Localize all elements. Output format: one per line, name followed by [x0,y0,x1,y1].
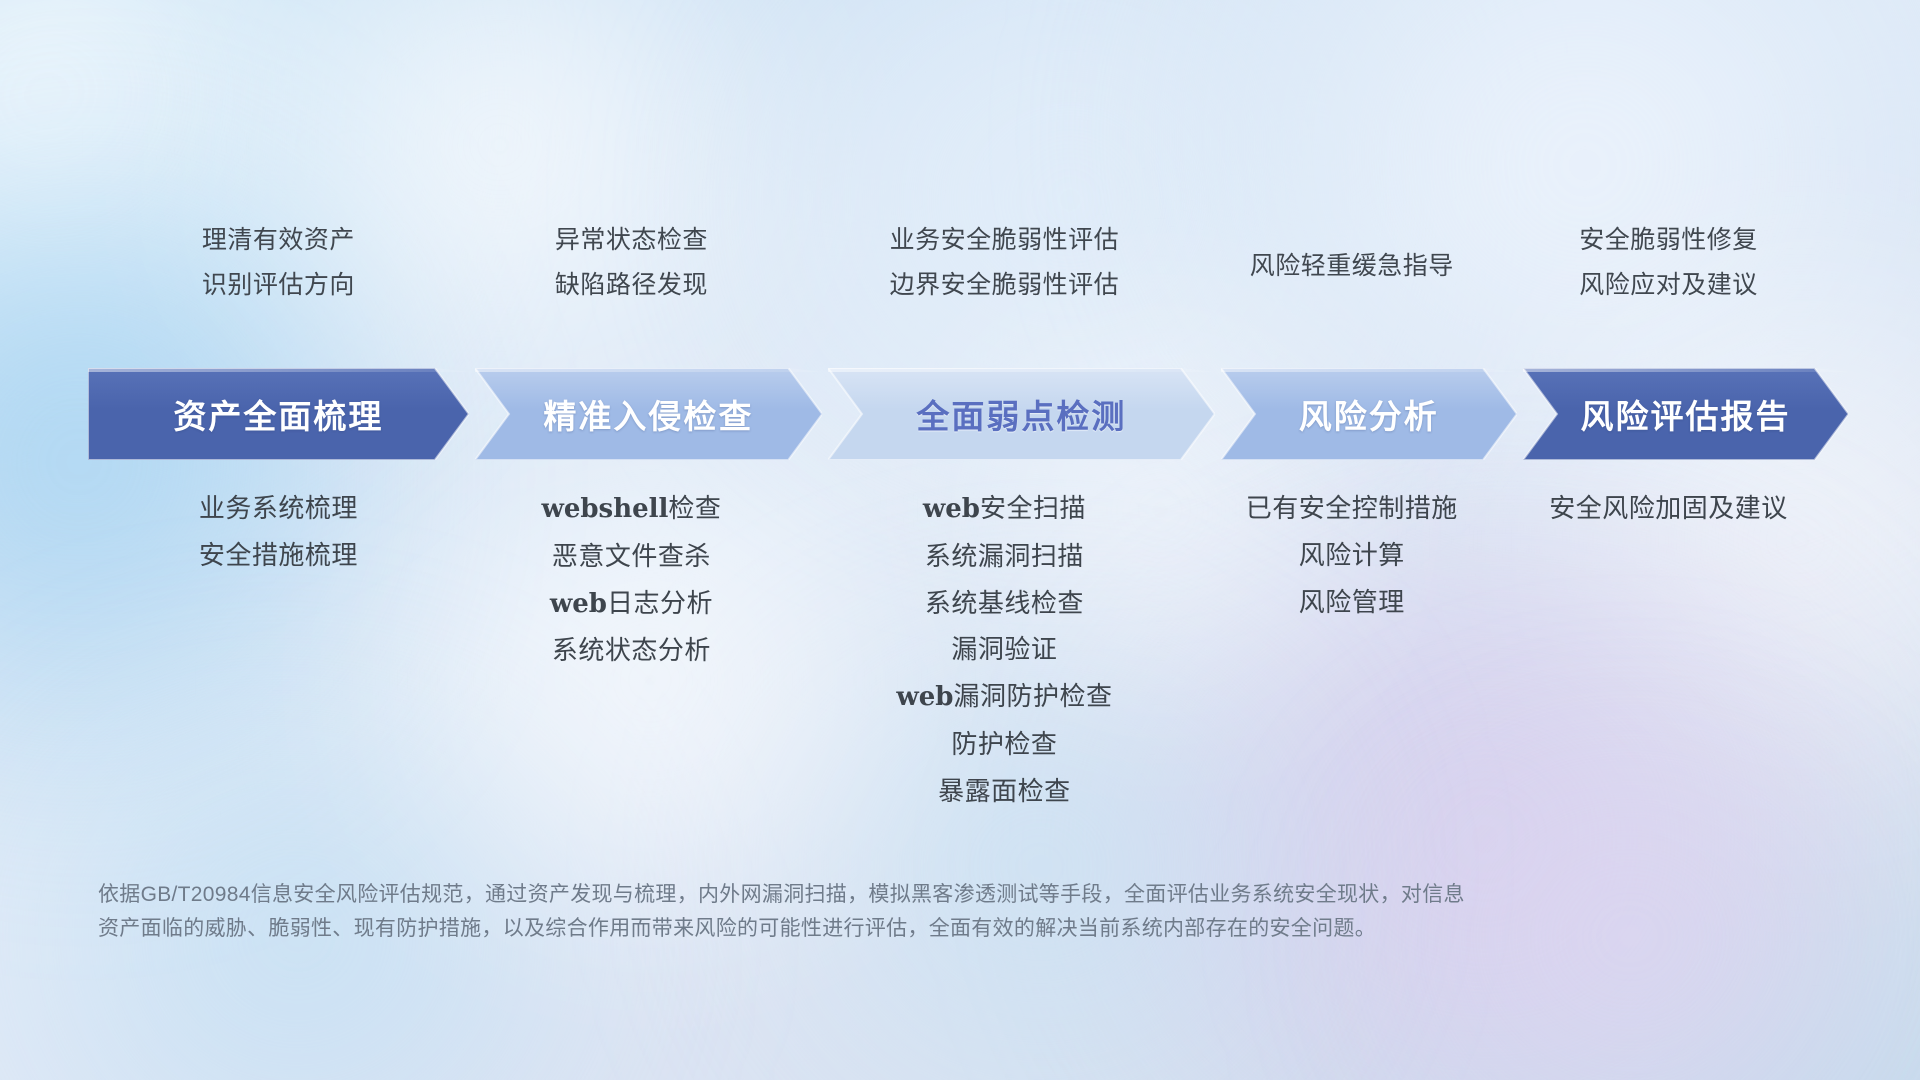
bottom-item: web漏洞防护检查 [896,680,1112,715]
top-labels-weakness-detection: 业务安全脆弱性评估边界安全脆弱性评估 [890,224,1120,302]
bottom-items-asset-inventory: 业务系统梳理安全措施梳理 [199,492,358,573]
bottom-item-cn: 风险管理 [1299,587,1405,617]
background-glow-3 [120,0,880,380]
bottom-item-cn: 系统漏洞扫描 [925,541,1084,571]
bottom-item: 防护检查 [951,728,1057,762]
bottom-item: 系统基线检查 [925,587,1084,621]
footer-line-2: 资产面临的威胁、脆弱性、现有防护措施，以及综合作用而带来风险的可能性进行评估，全… [98,912,1758,946]
top-label-item: 风险应对及建议 [1579,269,1758,302]
bottom-item-cn: 检查 [668,493,721,523]
stage-title: 风险评估报告 [1581,390,1791,438]
top-labels-intrusion-check: 异常状态检查缺陷路径发现 [555,224,708,302]
bottom-item-cn: 已有安全控制措施 [1246,493,1458,523]
footer-line-1: 依据GB/T20984信息安全风险评估规范，通过资产发现与梳理，内外网漏洞扫描，… [98,878,1758,912]
bottom-item-cn: 暴露面检查 [938,776,1071,806]
stage-title: 精准入侵检查 [543,390,753,438]
bottom-item: web安全扫描 [923,492,1086,527]
bottom-item-cn: 防护检查 [951,729,1057,759]
process-stage-asset-inventory[interactable]: 资产全面梳理 [88,368,469,460]
bottom-item-cn: 安全扫描 [980,493,1086,523]
bottom-items-weakness-detection: web安全扫描系统漏洞扫描系统基线检查漏洞验证web漏洞防护检查防护检查暴露面检… [896,492,1112,809]
top-label-item: 识别评估方向 [202,269,355,302]
background-glow-7 [1080,560,1920,1080]
bottom-item-cn: 系统状态分析 [552,635,711,665]
bottom-item: 已有安全控制措施 [1246,492,1458,526]
background-glow-6 [1460,200,1920,880]
top-label-item: 业务安全脆弱性评估 [890,224,1120,257]
top-label-item: 缺陷路径发现 [555,269,708,302]
top-label-item: 安全脆弱性修复 [1579,224,1758,257]
bottom-item-en: web [896,682,953,712]
bottom-item-cn: 风险计算 [1299,540,1405,570]
bottom-item-cn: 安全措施梳理 [199,540,358,570]
bottom-item: 安全措施梳理 [199,539,358,573]
footer-description: 依据GB/T20984信息安全风险评估规范，通过资产发现与梳理，内外网漏洞扫描，… [98,878,1758,946]
process-stage-intrusion-check[interactable]: 精准入侵检查 [475,368,822,460]
bottom-items-risk-analysis: 已有安全控制措施风险计算风险管理 [1246,492,1458,619]
bottom-item: web日志分析 [550,587,713,622]
bottom-item: 系统状态分析 [552,634,711,668]
bottom-item-cn: 漏洞防护检查 [953,681,1112,711]
bottom-item: 恶意文件查杀 [552,540,711,574]
bottom-item: 风险管理 [1299,586,1405,620]
bottom-item: webshell检查 [541,492,721,527]
bottom-items-risk-report: 安全风险加固及建议 [1549,492,1788,526]
bottom-items-intrusion-check: webshell检查恶意文件查杀web日志分析系统状态分析 [541,492,721,668]
bottom-item-cn: 恶意文件查杀 [552,541,711,571]
bottom-item: 安全风险加固及建议 [1549,492,1788,526]
bottom-item-cn: 漏洞验证 [951,634,1057,664]
bottom-item-cn: 日志分析 [607,588,713,618]
bottom-item-en: web [923,494,980,524]
top-label-item: 风险轻重缓急指导 [1250,250,1454,283]
top-labels-risk-report: 安全脆弱性修复风险应对及建议 [1579,224,1758,302]
process-chevron-banner: 资产全面梳理 精准入侵检查 [88,368,1848,460]
process-stage-weakness-detection[interactable]: 全面弱点检测 [828,368,1215,460]
bottom-item: 系统漏洞扫描 [925,540,1084,574]
bottom-item-cn: 系统基线检查 [925,588,1084,618]
top-label-item: 边界安全脆弱性评估 [890,269,1120,302]
bottom-item-cn: 业务系统梳理 [199,493,358,523]
process-stage-risk-analysis[interactable]: 风险分析 [1221,368,1517,460]
bottom-item: 漏洞验证 [951,633,1057,667]
top-labels-risk-analysis: 风险轻重缓急指导 [1250,250,1454,283]
stage-title: 资产全面梳理 [173,390,383,438]
bottom-item: 业务系统梳理 [199,492,358,526]
bottom-item: 风险计算 [1299,539,1405,573]
bottom-item-en: web [550,589,607,619]
top-labels-asset-inventory: 理清有效资产识别评估方向 [202,224,355,302]
top-label-item: 理清有效资产 [202,224,355,257]
process-stage-risk-report[interactable]: 风险评估报告 [1523,368,1849,460]
stage-title: 风险分析 [1299,390,1439,438]
stage-title: 全面弱点检测 [916,390,1126,438]
infographic-canvas: 理清有效资产识别评估方向异常状态检查缺陷路径发现业务安全脆弱性评估边界安全脆弱性… [0,0,1920,1080]
bottom-item-cn: 安全风险加固及建议 [1549,493,1788,523]
bottom-item-en: webshell [541,494,668,524]
bottom-item: 暴露面检查 [938,775,1071,809]
top-label-item: 异常状态检查 [555,224,708,257]
